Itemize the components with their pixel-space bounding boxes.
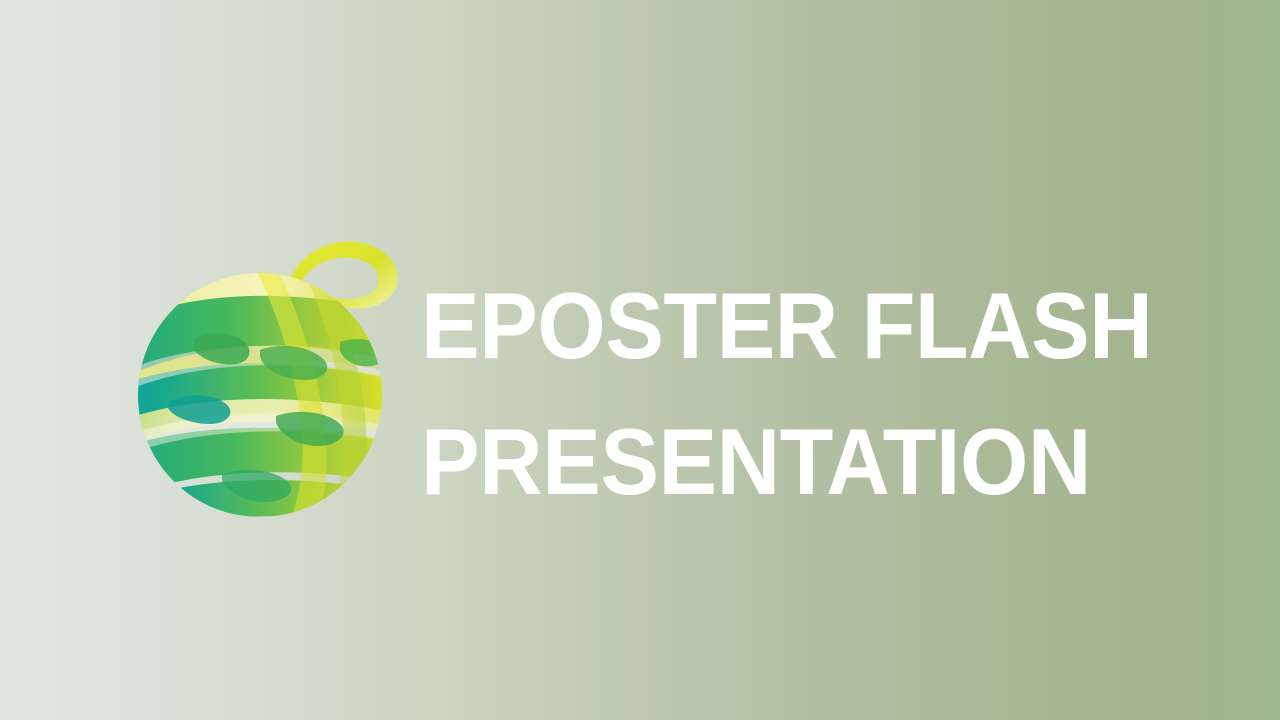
presentation-title-slide: EPOSTER FLASH PRESENTATION	[0, 0, 1280, 720]
slide-title-block: EPOSTER FLASH PRESENTATION	[421, 258, 1221, 530]
slide-title-line-2: PRESENTATION	[421, 394, 1169, 530]
globe-ribbon-logo-svg	[110, 190, 410, 530]
logo-globe-body	[110, 232, 394, 530]
globe-ribbon-logo	[110, 190, 410, 530]
slide-title-line-1: EPOSTER FLASH	[421, 258, 1169, 394]
